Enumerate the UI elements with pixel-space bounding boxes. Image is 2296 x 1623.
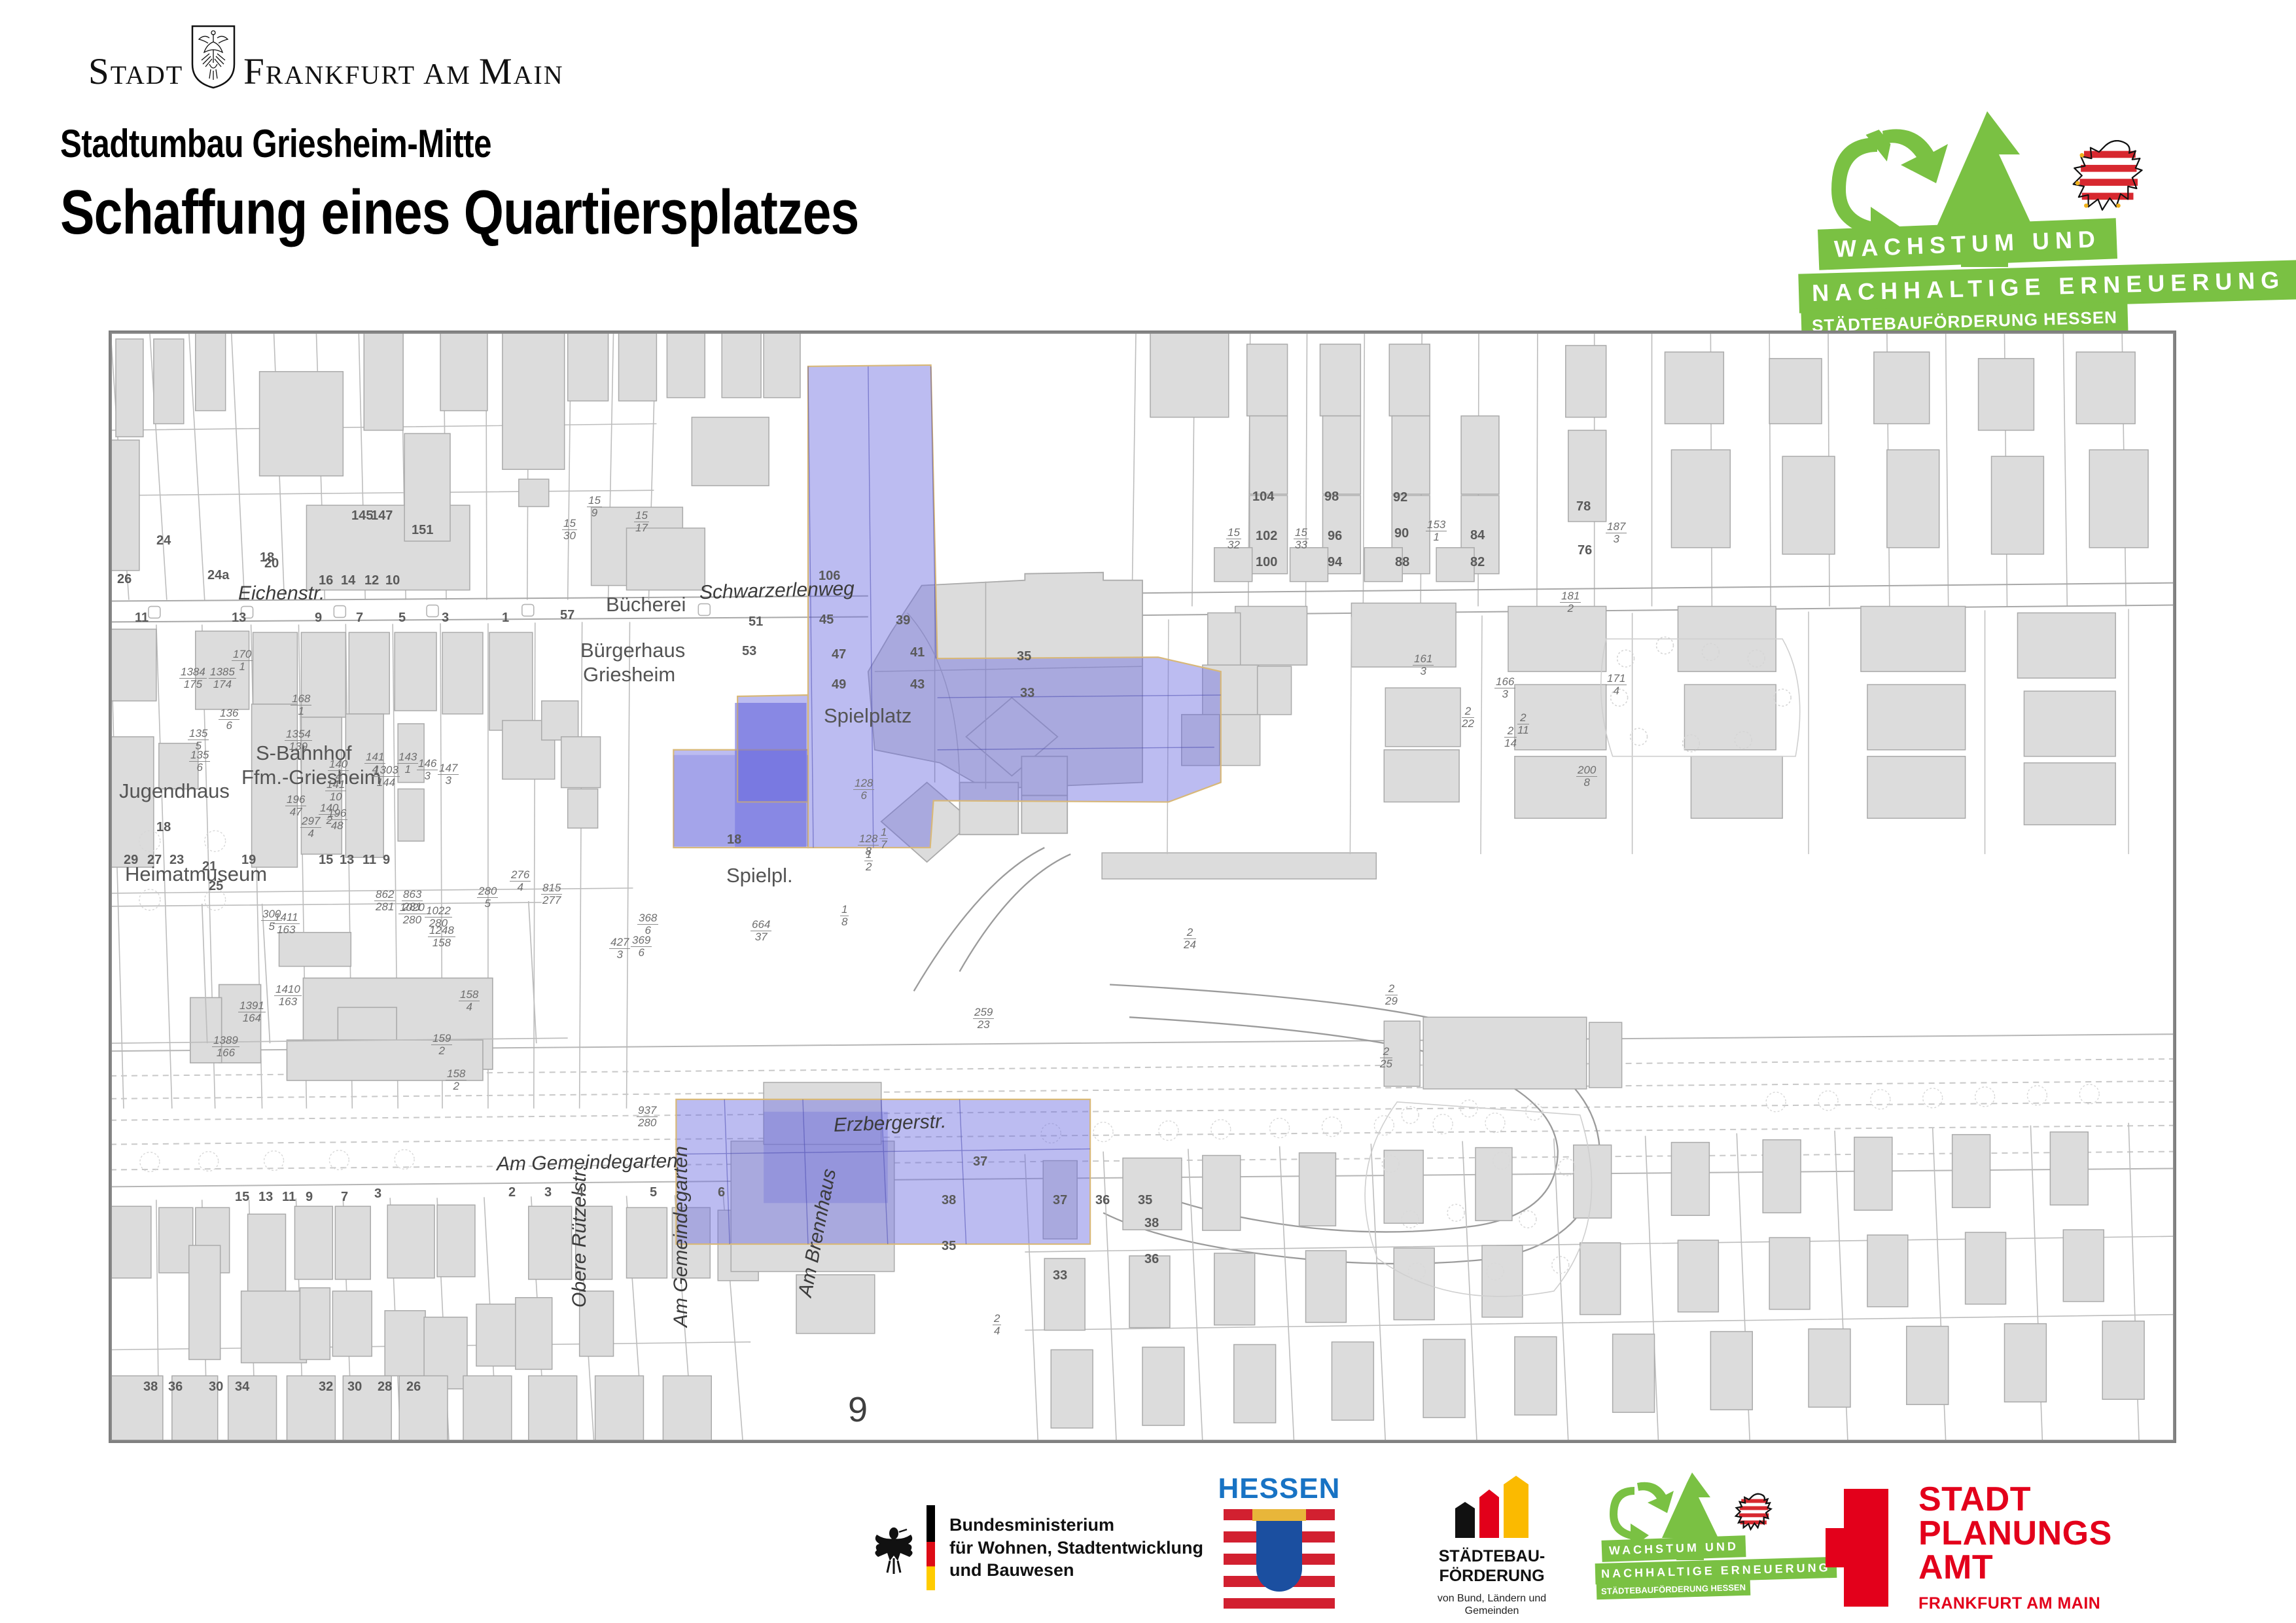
map-house-number: 28 [378, 1380, 392, 1395]
german-flag-bar-icon [927, 1505, 935, 1590]
map-house-number: 14 [341, 573, 355, 588]
map-parcel-fraction: 1663 [1494, 676, 1515, 700]
spa-words: STADT PLANUNGS AMT FRANKFURT AM MAIN [1918, 1482, 2112, 1613]
stbf-sub1: von Bund, Ländern und [1394, 1592, 1590, 1605]
map-parcel-fraction: 1714 [1606, 673, 1627, 697]
map-house-number: 51 [749, 615, 763, 630]
map-parcel-fraction: 222 [1462, 705, 1474, 730]
map-house-number: 29 [124, 853, 138, 868]
map-parcel-fraction: 1356 [189, 749, 210, 774]
map-house-number: 90 [1394, 526, 1409, 541]
place-label-buecherei: Bücherei [606, 593, 686, 616]
place-label-spielplatz: Spielplatz [824, 704, 911, 728]
map-parcel-fraction: 1473 [438, 762, 459, 787]
map-parcel-fraction: 1873 [1606, 521, 1627, 545]
map-house-number: 38 [942, 1193, 956, 1208]
stbf-sub2: Gemeinden [1394, 1605, 1590, 1617]
map-house-number: 84 [1470, 528, 1485, 543]
map-parcel-fraction: 159 [587, 495, 602, 519]
map-parcel-fraction: 1431 [397, 751, 418, 776]
map-house-number: 41 [910, 645, 925, 660]
map-house-number: 36 [1144, 1252, 1159, 1267]
spa-line3: AMT [1918, 1550, 2112, 1584]
map-parcel-fraction: 2974 [300, 815, 321, 840]
map-house-number: 24 [156, 533, 171, 548]
map-parcel-fraction: 3686 [637, 912, 658, 936]
map-parcel-fraction: 1354139 [285, 728, 312, 753]
map-parcel-fraction: 25923 [973, 1007, 994, 1031]
map-parcel-fraction: 1531 [1426, 519, 1447, 543]
map-house-number: 38 [1144, 1216, 1159, 1231]
map-house-number: 76 [1578, 543, 1592, 558]
bmwsb-logo: Bundesministerium für Wohnen, Stadtentwi… [870, 1472, 1210, 1623]
page-header: STADT FRANKFURT AM MAIN Stadtumbau Gries… [0, 0, 2296, 314]
place-label-ffm-griesheim: Ffm.-Griesheim [241, 766, 381, 789]
map-house-number: 12 [364, 573, 379, 588]
map-house-number: 19 [241, 853, 256, 868]
map-parcel-fraction: 862281 [374, 889, 395, 913]
map-house-number: 18 [156, 820, 171, 835]
federal-eagle-icon [870, 1520, 917, 1575]
house-gold-icon [1504, 1476, 1528, 1538]
map-house-number: 24a [207, 568, 229, 583]
map-house-number: 92 [1393, 490, 1407, 505]
map-house-number: 36 [1095, 1193, 1110, 1208]
map-house-number: 78 [1576, 499, 1591, 514]
map-house-number: 3 [442, 611, 449, 626]
page-title: Schaffung eines Quartiersplatzes [60, 177, 859, 249]
map-house-number: 15 [235, 1190, 249, 1205]
stbf-line2: FÖRDERUNG [1394, 1567, 1590, 1586]
place-label-jugendhaus: Jugendhaus [119, 779, 230, 803]
map-parcel-fraction: 1812 [1560, 590, 1581, 615]
map-house-number: 4 [576, 1185, 584, 1200]
map-house-number: 6 [718, 1185, 725, 1200]
map-house-number: 5 [650, 1185, 657, 1200]
map-parcel-fraction: 1391164 [238, 1000, 266, 1024]
map-house-number: 2 [508, 1185, 516, 1200]
hessen-crown-icon [1252, 1509, 1306, 1521]
map-parcel-fraction: 1701 [232, 649, 253, 673]
map-parcel-fraction: 1463 [417, 758, 438, 782]
map-parcel-fraction: 24 [993, 1313, 1001, 1337]
hessen-logo: HESSEN [1217, 1472, 1341, 1623]
map-house-number: 43 [910, 677, 925, 692]
map-house-number: 11 [282, 1190, 296, 1205]
hessen-wordmark: HESSEN [1217, 1472, 1341, 1505]
map-parcel-fraction: 1592 [431, 1033, 452, 1057]
map-parcel-fraction: 19648 [327, 808, 347, 832]
map-parcel-fraction: 1533 [1294, 527, 1309, 551]
spa-line1: STADT [1918, 1482, 2112, 1516]
map-house-number: 32 [319, 1380, 333, 1395]
map-house-number: 37 [1053, 1193, 1067, 1208]
map-parcel-fraction: 1532 [1226, 527, 1241, 551]
map-house-number: 18 [727, 832, 741, 847]
map-house-number: 106 [819, 569, 840, 584]
map-house-number: 47 [832, 647, 846, 662]
street-label-erzbergerstr: Erzbergerstr. [833, 1111, 946, 1137]
map-house-number: 96 [1328, 529, 1342, 544]
map-house-number: 11 [362, 853, 376, 868]
stadtplanungsamt-mark-icon [1826, 1489, 1888, 1607]
map-house-number: 34 [235, 1380, 249, 1395]
map-house-number: 13 [232, 611, 246, 626]
map-parcel-fraction: 1022280 [425, 905, 452, 929]
map-parcel-fraction: 224 [1184, 927, 1196, 951]
map-house-number: 25 [209, 879, 223, 894]
map-house-number: 94 [1328, 555, 1342, 570]
map-parcel-fraction: 3005 [261, 908, 282, 933]
map-house-number: 38 [143, 1380, 158, 1395]
map-house-number: 39 [896, 613, 910, 628]
street-label-eichenstr: Eichenstr. [238, 582, 325, 605]
logo-word-stadt: STADT [88, 53, 183, 90]
map-parcel-fraction: 2008 [1576, 764, 1597, 789]
map-parcel-fraction: 937280 [637, 1105, 658, 1129]
house-red-icon [1479, 1489, 1499, 1538]
map-parcel-fraction: 1286 [853, 777, 874, 802]
map-parcel-fraction: 14110 [325, 779, 346, 803]
map-parcel-fraction: 1288 [858, 833, 879, 857]
map-house-number: 7 [341, 1190, 348, 1205]
cadastral-map[interactable]: Eichenstr. Schwarzerlenweg Am Gemeindega… [109, 330, 2176, 1443]
map-house-number: 9 [383, 853, 390, 868]
map-house-number: 151 [412, 523, 433, 538]
title-block: Stadtumbau Griesheim-Mitte Schaffung ein… [60, 121, 1034, 249]
map-house-number: 13 [340, 853, 354, 868]
map-house-number: 23 [169, 853, 184, 868]
map-parcel-fraction: 815277 [541, 882, 562, 906]
bmwsb-text: Bundesministerium für Wohnen, Stadtentwi… [949, 1514, 1203, 1582]
map-house-number: 26 [117, 572, 132, 587]
map-parcel-fraction: 214 [1504, 725, 1517, 749]
map-house-number: 7 [356, 611, 363, 626]
map-house-number: 9 [315, 611, 322, 626]
map-vector-layer [111, 332, 2174, 1441]
city-of-frankfurt-logo: STADT FRANKFURT AM MAIN [88, 25, 564, 90]
three-houses-icon [1394, 1478, 1590, 1538]
map-house-number: 5 [398, 611, 406, 626]
map-house-number: 35 [942, 1239, 956, 1254]
map-house-number: 33 [1053, 1268, 1067, 1283]
map-house-number: 26 [406, 1380, 421, 1395]
map-parcel-fraction: 18 [840, 904, 849, 928]
bmwsb-line3: und Bauwesen [949, 1559, 1203, 1582]
map-house-number: 45 [819, 613, 834, 628]
map-house-number: 53 [742, 644, 756, 659]
stbf-title: STÄDTEBAU- FÖRDERUNG [1394, 1547, 1590, 1586]
map-house-number: 10 [385, 573, 400, 588]
map-parcel-fraction: 1303144 [372, 764, 400, 789]
map-parcel-fraction: 1366 [219, 707, 239, 732]
map-house-number: 35 [1138, 1193, 1152, 1208]
map-house-number: 3 [544, 1185, 552, 1200]
bmwsb-line2: für Wohnen, Stadtentwicklung [949, 1537, 1203, 1560]
stbf-line1: STÄDTEBAU- [1394, 1547, 1590, 1567]
spa-line2: PLANUNGS [1918, 1516, 2112, 1550]
map-house-number: 15 [319, 853, 333, 868]
map-parcel-fraction: 1384175 [179, 666, 207, 690]
map-parcel-fraction: 1681 [291, 693, 311, 717]
stbf-subtitle: von Bund, Ländern und Gemeinden [1394, 1592, 1590, 1617]
map-house-number: 37 [973, 1154, 987, 1169]
map-parcel-fraction: 2805 [477, 885, 498, 910]
map-parcel-fraction: 1584 [459, 989, 480, 1013]
map-house-number: 3 [374, 1186, 381, 1202]
map-house-number: 57 [560, 608, 574, 623]
map-house-number: 18 [260, 550, 274, 565]
map-house-number: 49 [832, 677, 846, 692]
map-parcel-fraction: 4273 [609, 936, 630, 961]
place-label-buergerhaus: Bürgerhaus [580, 639, 685, 662]
map-corner-marker: 9 [848, 1389, 868, 1430]
map-house-number: 33 [1020, 686, 1034, 701]
map-parcel-fraction: 211 [1517, 712, 1529, 736]
map-house-number: 1 [502, 611, 509, 626]
map-house-number: 102 [1256, 529, 1277, 544]
map-house-number: 145 [351, 508, 373, 524]
map-house-number: 98 [1324, 490, 1339, 505]
map-house-number: 21 [202, 859, 217, 874]
map-parcel-fraction: 1530 [562, 518, 577, 542]
street-label-am-gemeindegarten-vertical: Am Gemeindegarten [670, 1146, 692, 1327]
house-black-icon [1455, 1502, 1475, 1538]
map-house-number: 147 [371, 508, 393, 524]
map-parcel-fraction: 1410163 [274, 984, 302, 1008]
map-house-number: 13 [258, 1190, 273, 1205]
map-house-number: 30 [347, 1380, 362, 1395]
logo-word-frankfurt-am-main: FRANKFURT AM MAIN [243, 53, 563, 90]
map-parcel-fraction: 1613 [1413, 653, 1434, 677]
map-house-number: 9 [306, 1190, 313, 1205]
map-house-number: 88 [1395, 555, 1409, 570]
spa-sub: FRANKFURT AM MAIN [1918, 1594, 2112, 1613]
frankfurt-eagle-crest-icon [190, 25, 237, 89]
map-parcel-fraction: 229 [1385, 983, 1398, 1007]
map-house-number: 100 [1256, 555, 1277, 570]
map-parcel-fraction: 1517 [634, 510, 649, 534]
map-house-number: 11 [135, 611, 149, 626]
map-parcel-fraction: 1389166 [212, 1035, 239, 1059]
program-logo-small: WACHSTUM UND NACHHALTIGE ERNEUERUNG STÄD… [1597, 1472, 1793, 1623]
staedtebaufoerderung-logo: STÄDTEBAU- FÖRDERUNG von Bund, Ländern u… [1394, 1472, 1590, 1623]
map-parcel-fraction: 863281 [402, 889, 423, 913]
map-parcel-fraction: 2764 [510, 869, 531, 893]
map-house-number: 35 [1017, 649, 1031, 664]
map-house-number: 82 [1470, 555, 1485, 570]
map-parcel-fraction: 66437 [751, 919, 771, 943]
map-house-number: 36 [168, 1380, 183, 1395]
bmwsb-line1: Bundesministerium [949, 1514, 1203, 1537]
map-house-number: 30 [209, 1380, 223, 1395]
program-logo: WACHSTUM UND NACHHALTIGE ERNEUERUNG STÄD… [1805, 111, 2224, 327]
map-parcel-fraction: 3696 [631, 935, 652, 959]
stadtplanungsamt-logo: STADT PLANUNGS AMT FRANKFURT AM MAIN [1826, 1472, 2166, 1623]
hessen-shield-icon [1256, 1513, 1302, 1592]
place-label-spielpl: Spielpl. [726, 864, 793, 887]
map-parcel-fraction: 225 [1380, 1046, 1392, 1070]
map-house-number: 27 [147, 853, 162, 868]
map-house-number: 104 [1252, 490, 1274, 505]
page-subtitle: Stadtumbau Griesheim-Mitte [60, 121, 859, 166]
funding-logo-bar: Bundesministerium für Wohnen, Stadtentwi… [0, 1472, 2296, 1623]
map-parcel-fraction: 1582 [446, 1068, 467, 1092]
map-house-number: 16 [319, 573, 333, 588]
map-parcel-fraction: 17 [879, 827, 888, 851]
place-label-griesheim: Griesheim [583, 663, 675, 687]
hessen-flag-icon [1224, 1509, 1335, 1609]
